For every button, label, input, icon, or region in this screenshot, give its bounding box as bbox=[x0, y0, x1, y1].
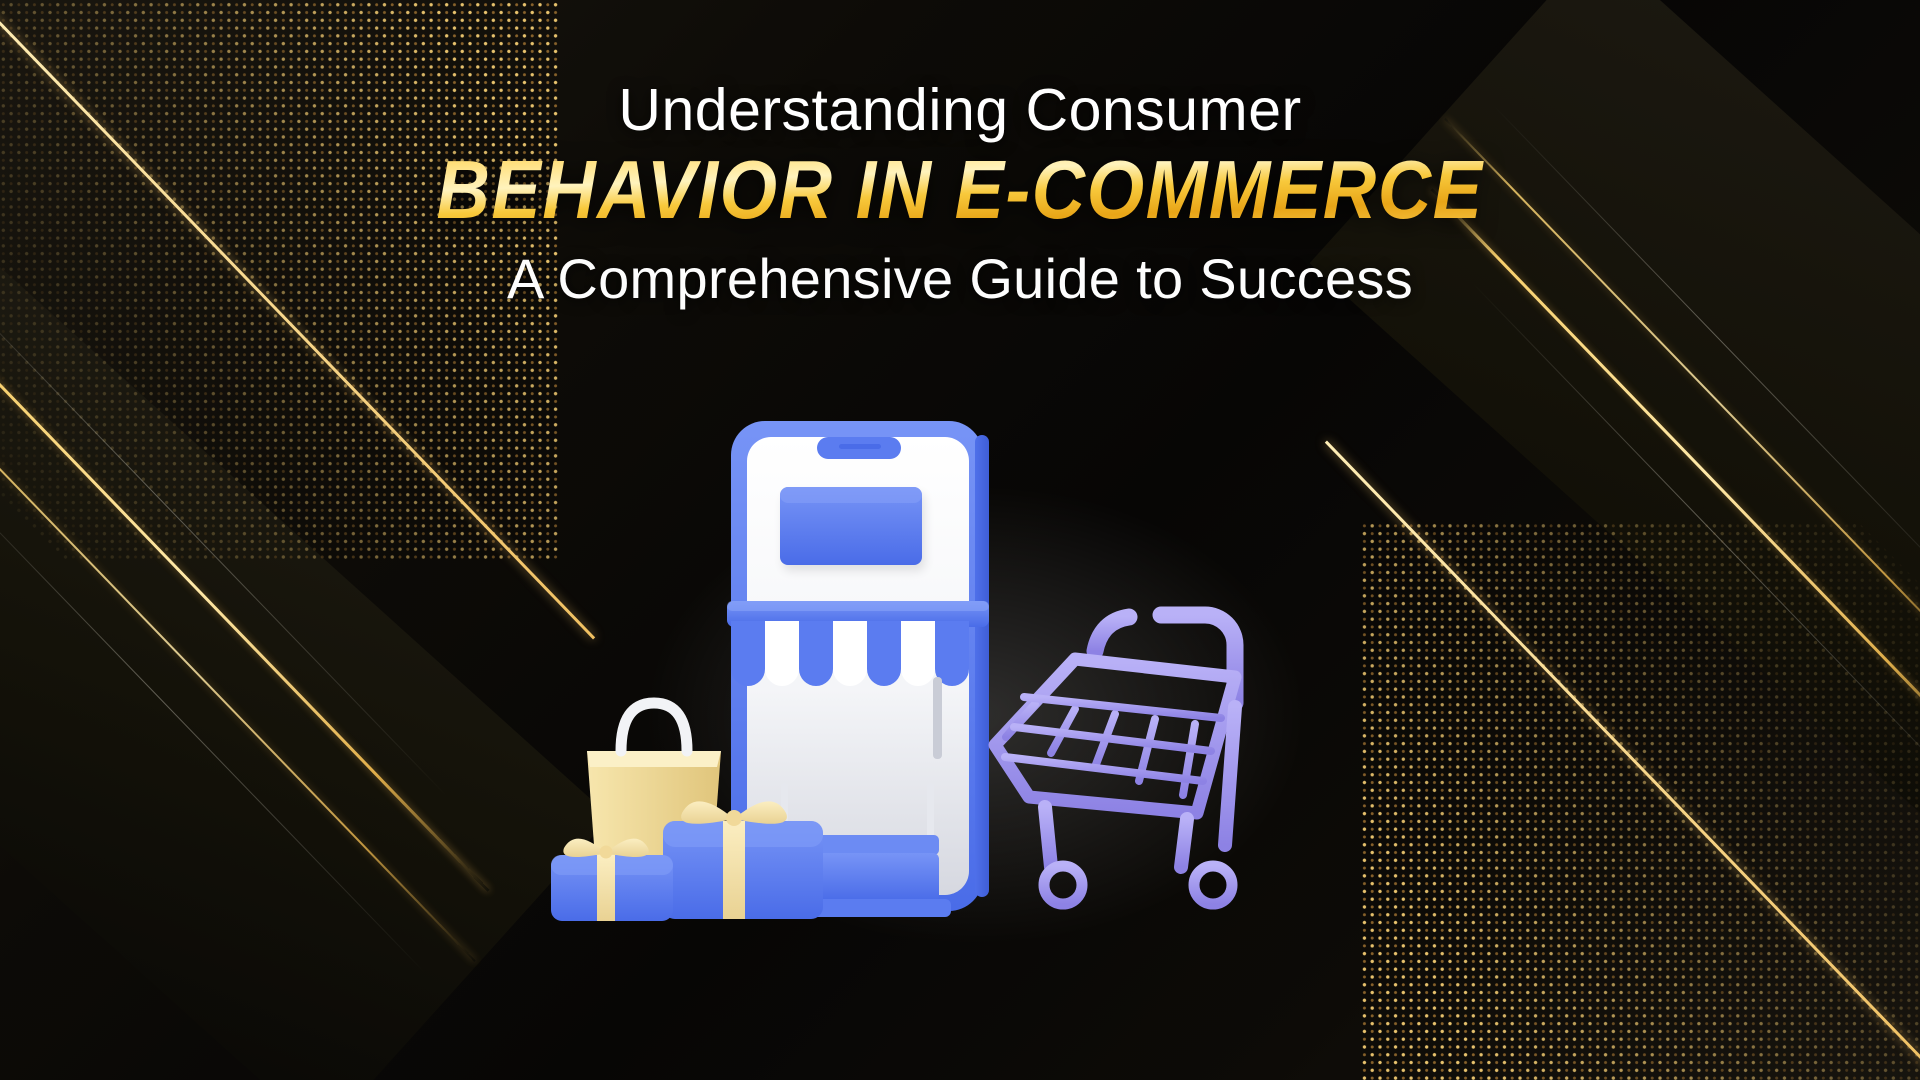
gift-small-bow-knot bbox=[600, 846, 613, 859]
awning-top-highlight bbox=[727, 601, 989, 611]
shop-sign bbox=[780, 487, 925, 571]
interior-pole bbox=[933, 677, 942, 759]
cart-leg-front bbox=[1045, 807, 1051, 867]
headline-line-1: Understanding Consumer bbox=[0, 78, 1920, 143]
awning-scallop-3 bbox=[799, 621, 833, 686]
headline-line-2-gold: BEHAVIOR IN E-COMMERCE bbox=[0, 144, 1920, 237]
cart-leg-back bbox=[1181, 819, 1187, 867]
awning-scallop-1 bbox=[731, 621, 765, 686]
bag-top-edge bbox=[587, 751, 721, 767]
phone-right-edge bbox=[975, 435, 989, 897]
gift-large-ribbon-vertical bbox=[723, 821, 745, 919]
awning-scallop-5 bbox=[867, 621, 901, 686]
awning-scallop-4 bbox=[833, 621, 867, 686]
cart-post bbox=[1225, 707, 1235, 845]
phone-speaker bbox=[839, 444, 881, 449]
awning-scallop-6 bbox=[901, 621, 935, 686]
shop-awning bbox=[727, 601, 989, 686]
awning-scallop-2 bbox=[765, 621, 799, 686]
awning-scallops bbox=[731, 621, 969, 686]
halftone-bottom-right-clip bbox=[1360, 520, 1920, 1080]
gold-halftone-bottom-right bbox=[1360, 520, 1920, 1080]
gift-small-ribbon-vertical bbox=[597, 855, 615, 921]
shop-sign-highlight bbox=[780, 487, 922, 503]
awning-scallop-7 bbox=[935, 621, 969, 686]
headline-block: Understanding Consumer BEHAVIOR IN E-COM… bbox=[0, 78, 1920, 310]
subheadline: A Comprehensive Guide to Success bbox=[0, 248, 1920, 311]
gift-large-bow-knot bbox=[726, 810, 742, 826]
promotional-banner: Understanding Consumer BEHAVIOR IN E-COM… bbox=[0, 0, 1920, 1080]
ecommerce-illustration bbox=[535, 415, 1415, 935]
